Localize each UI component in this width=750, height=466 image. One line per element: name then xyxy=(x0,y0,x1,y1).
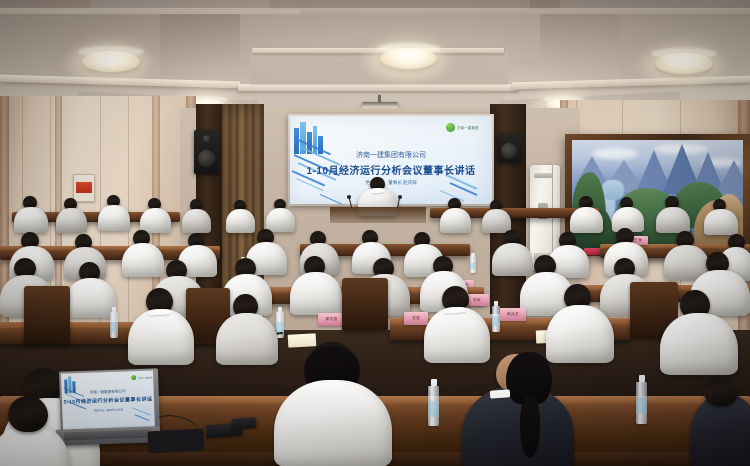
nameplate-label: 郭志国 xyxy=(326,317,338,322)
nameplate: 张强 xyxy=(404,312,428,325)
microphone-head-right xyxy=(398,195,402,199)
laptop-slide-subtitle: 党委书记、董事长 赵庆辉 xyxy=(62,406,154,413)
head-table xyxy=(330,207,426,223)
nameplate: 韩兆坚 xyxy=(500,308,526,321)
bottle-label xyxy=(470,263,476,269)
wall-notice-sign-inner xyxy=(76,182,92,193)
conference-room-photo: 济南一建集团 济南一建集团有限公司 1-10月经济运行分析会议董事长讲话 党委书… xyxy=(0,0,750,466)
laptop-screen: 济南一建集团 济南一建集团有限公司 1-10月经济运行分析会议董事长讲话 党委书… xyxy=(61,370,155,429)
bottle-label xyxy=(492,316,500,326)
microphone-head-left xyxy=(347,195,351,199)
slide-organization: 济南一建集团有限公司 xyxy=(290,150,492,160)
bottle-label xyxy=(428,401,439,417)
company-logo: 济南一建集团 xyxy=(446,123,479,132)
laptop-keyboard[interactable] xyxy=(64,430,150,441)
shirt-collar xyxy=(490,389,511,398)
water-bottle[interactable] xyxy=(428,386,439,426)
bottle-label xyxy=(276,322,284,332)
bottle-cap xyxy=(278,307,282,312)
bottle-cap xyxy=(471,253,475,256)
bottle-cap xyxy=(494,301,498,306)
water-bottle[interactable] xyxy=(636,382,647,424)
ceiling-light-rim-1 xyxy=(78,46,144,57)
bottle-cap xyxy=(112,307,116,312)
nameplate: 郭志国 xyxy=(318,313,345,326)
bottle-label xyxy=(636,397,647,414)
bottle-cap xyxy=(639,375,645,382)
logo-mark-icon xyxy=(446,123,455,132)
ceiling-light-rim-3 xyxy=(651,48,717,59)
wall-speaker-right xyxy=(497,133,521,163)
painting-frame xyxy=(565,134,750,256)
laptop-slide-accent xyxy=(134,414,149,421)
bottle-cap xyxy=(431,379,437,386)
speaker-cone xyxy=(198,150,215,167)
ac-vent xyxy=(534,173,552,178)
wall-speaker-left xyxy=(194,130,219,174)
laptop[interactable]: 济南一建集团 济南一建集团有限公司 1-10月经济运行分析会议董事长讲话 党委书… xyxy=(59,368,160,434)
speaker-cone xyxy=(501,143,517,159)
bottle-label xyxy=(110,322,118,332)
nameplate-label: 王海 xyxy=(634,238,642,243)
notepad[interactable] xyxy=(288,333,317,347)
nameplate-label: 陈军 xyxy=(473,298,481,303)
wall-notice-sign xyxy=(73,174,95,202)
slide-headline: 1-10月经济运行分析会议董事长讲话 xyxy=(290,162,492,177)
laptop-logo-text: 济南一建集团 xyxy=(138,375,152,379)
ceiling-light-rim-2 xyxy=(377,43,441,54)
water-bottle[interactable] xyxy=(470,256,476,273)
water-bottle[interactable] xyxy=(110,312,118,338)
chair[interactable] xyxy=(24,286,70,344)
nameplate-label: 张强 xyxy=(412,316,420,321)
slide-accent-line xyxy=(320,194,344,204)
chair[interactable] xyxy=(342,278,388,330)
speaker-tweeter xyxy=(203,135,210,142)
mobile-phone[interactable] xyxy=(232,417,257,430)
water-bottle[interactable] xyxy=(492,306,500,332)
ponytail-tail xyxy=(520,396,540,458)
nameplate-label: 韩兆坚 xyxy=(507,312,519,317)
laptop-logo: 济南一建集团 xyxy=(131,374,152,380)
logo-text: 济南一建集团 xyxy=(457,125,479,130)
laptop-logo-mark-icon xyxy=(131,375,136,380)
